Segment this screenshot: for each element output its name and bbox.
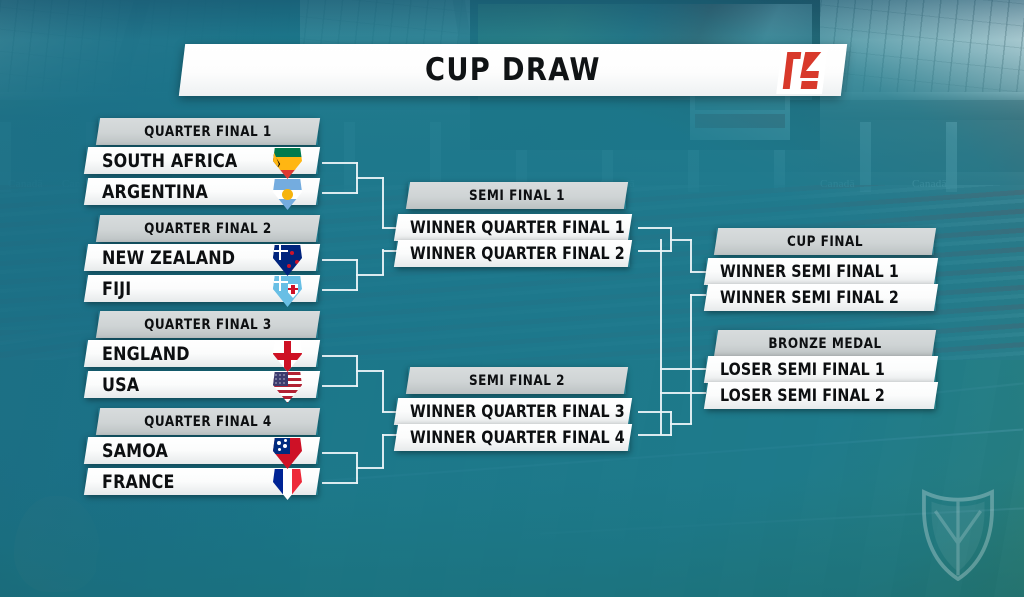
connector-line bbox=[690, 239, 692, 272]
bracket-header-cup-final[interactable]: CUP FINAL bbox=[716, 228, 934, 255]
bracket-team-england[interactable]: ENGLAND bbox=[86, 340, 318, 367]
bracket-slot-winner-qf4[interactable]: WINNER QUARTER FINAL 4 bbox=[396, 424, 630, 451]
bracket-slot-loser-sf1[interactable]: LOSER SEMI FINAL 1 bbox=[706, 356, 936, 383]
connector-line bbox=[322, 192, 358, 194]
bracket-team-argentina[interactable]: ARGENTINA bbox=[86, 178, 318, 205]
connector-line bbox=[690, 271, 706, 273]
connector-line bbox=[690, 294, 706, 296]
bracket-team-fiji[interactable]: FIJI bbox=[86, 275, 318, 302]
bracket-slot-winner-qf1[interactable]: WINNER QUARTER FINAL 1 bbox=[396, 214, 630, 241]
connector-line bbox=[356, 467, 384, 469]
bracket-slot-winner-qf3[interactable]: WINNER QUARTER FINAL 3 bbox=[396, 398, 630, 425]
connector-line bbox=[638, 250, 672, 252]
connector-line bbox=[382, 177, 384, 228]
connector-line bbox=[660, 239, 662, 435]
connector-line bbox=[356, 274, 384, 276]
connector-line bbox=[356, 370, 384, 372]
connector-line bbox=[660, 368, 706, 370]
teal-top-band bbox=[0, 0, 1024, 40]
bracket-header-sf1[interactable]: SEMI FINAL 1 bbox=[408, 182, 626, 209]
bracket-header-bronze-medal[interactable]: BRONZE MEDAL bbox=[716, 330, 934, 357]
connector-line bbox=[660, 392, 706, 394]
connector-line bbox=[670, 423, 692, 425]
connector-line bbox=[322, 259, 358, 261]
bracket-slot-winner-sf2[interactable]: WINNER SEMI FINAL 2 bbox=[706, 284, 936, 311]
connector-line bbox=[670, 239, 692, 241]
bracket-team-south-africa[interactable]: SOUTH AFRICA bbox=[86, 147, 318, 174]
bracket-header-qf2[interactable]: QUARTER FINAL 2 bbox=[98, 215, 318, 242]
connector-line bbox=[638, 411, 672, 413]
connector-line bbox=[322, 385, 358, 387]
bracket-team-new-zealand[interactable]: NEW ZEALAND bbox=[86, 244, 318, 271]
connector-line bbox=[382, 434, 384, 468]
bracket-header-qf1[interactable]: QUARTER FINAL 1 bbox=[98, 118, 318, 145]
world-rugby-shield-watermark bbox=[910, 477, 1006, 581]
connector-line bbox=[322, 452, 358, 454]
teal-bottom-gradient bbox=[0, 477, 1024, 597]
bracket-team-france[interactable]: FRANCE bbox=[86, 468, 318, 495]
connector-line bbox=[382, 249, 384, 275]
connector-line bbox=[356, 177, 384, 179]
connector-line bbox=[638, 434, 672, 436]
title-bar: CUP DRAW bbox=[182, 44, 844, 96]
cup-draw-graphic: Canadä Canadä Canadä Canadä Canadä Canad… bbox=[0, 0, 1024, 597]
bracket-slot-winner-qf2[interactable]: WINNER QUARTER FINAL 2 bbox=[396, 240, 630, 267]
bracket-slot-winner-sf1[interactable]: WINNER SEMI FINAL 1 bbox=[706, 258, 936, 285]
bracket-team-samoa[interactable]: SAMOA bbox=[86, 437, 318, 464]
bracket-team-usa[interactable]: USA bbox=[86, 371, 318, 398]
page-title: CUP DRAW bbox=[425, 52, 601, 88]
bracket-slot-loser-sf2[interactable]: LOSER SEMI FINAL 2 bbox=[706, 382, 936, 409]
bracket-header-qf4[interactable]: QUARTER FINAL 4 bbox=[98, 408, 318, 435]
connector-line bbox=[638, 227, 672, 229]
connector-line bbox=[322, 162, 358, 164]
connector-line bbox=[322, 289, 358, 291]
bracket-header-sf2[interactable]: SEMI FINAL 2 bbox=[408, 367, 626, 394]
bracket-header-qf3[interactable]: QUARTER FINAL 3 bbox=[98, 311, 318, 338]
connector-line bbox=[322, 482, 358, 484]
world-rugby-sevens-logo bbox=[776, 47, 828, 94]
connector-line bbox=[322, 355, 358, 357]
connector-line bbox=[690, 294, 692, 424]
connector-line bbox=[382, 370, 384, 412]
